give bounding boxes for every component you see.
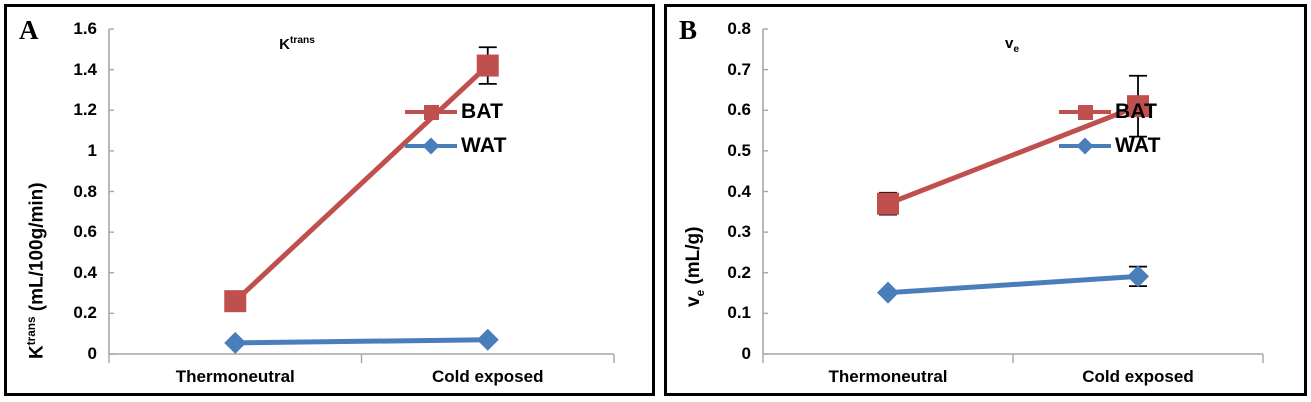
y-tick-label: 0.7 <box>681 60 751 80</box>
diamond-marker-icon <box>1059 136 1111 156</box>
legend-item-bat[interactable]: BAT <box>405 95 507 129</box>
legend-label: WAT <box>461 134 507 158</box>
y-tick-label: 1.4 <box>27 60 97 80</box>
panel-b: B ve (mL/g) ve 00.10.20.30.40.50.60.70.8… <box>664 4 1307 396</box>
x-tick-label: Cold exposed <box>432 367 543 387</box>
y-tick-label: 0 <box>27 344 97 364</box>
x-tick-label: Thermoneutral <box>828 367 947 387</box>
y-tick-label: 0.4 <box>27 263 97 283</box>
y-tick-label: 0.3 <box>681 222 751 242</box>
panel-a-plot-area <box>109 29 614 354</box>
y-tick-label: 0.6 <box>27 222 97 242</box>
y-tick-label: 0.4 <box>681 182 751 202</box>
series-wat <box>224 329 499 354</box>
panel-b-legend: BATWAT <box>1059 95 1161 163</box>
data-point-marker <box>477 329 499 351</box>
data-point-marker <box>224 290 246 312</box>
square-marker-icon <box>405 102 457 122</box>
panel-a-legend: BATWAT <box>405 95 507 163</box>
data-point-marker <box>877 193 899 215</box>
legend-item-wat[interactable]: WAT <box>1059 129 1161 163</box>
panel-a: A Ktrans (mL/100g/min) Ktrans 00.20.40.6… <box>4 4 655 396</box>
y-tick-label: 0.8 <box>681 19 751 39</box>
panel-a-chart-svg <box>109 29 614 354</box>
y-tick-label: 0.2 <box>27 303 97 323</box>
y-tick-label: 1 <box>27 141 97 161</box>
y-tick-label: 0.2 <box>681 263 751 283</box>
diamond-marker-icon <box>405 136 457 156</box>
y-tick-label: 0.1 <box>681 303 751 323</box>
legend-item-bat[interactable]: BAT <box>1059 95 1161 129</box>
figure-root: A Ktrans (mL/100g/min) Ktrans 00.20.40.6… <box>0 0 1311 402</box>
legend-label: BAT <box>461 100 503 124</box>
y-tick-label: 0.5 <box>681 141 751 161</box>
y-tick-label: 0.8 <box>27 182 97 202</box>
y-tick-label: 1.2 <box>27 100 97 120</box>
y-tick-label: 0.6 <box>681 100 751 120</box>
legend-item-wat[interactable]: WAT <box>405 129 507 163</box>
y-tick-label: 0 <box>681 344 751 364</box>
series-line <box>888 276 1138 292</box>
panel-b-chart-svg <box>763 29 1263 354</box>
data-point-marker <box>1127 265 1149 287</box>
y-tick-label: 1.6 <box>27 19 97 39</box>
series-wat <box>877 265 1149 303</box>
data-point-marker <box>477 55 499 77</box>
square-marker-icon <box>1059 102 1111 122</box>
panel-b-plot-area <box>763 29 1263 354</box>
series-bat <box>224 47 499 312</box>
legend-label: BAT <box>1115 100 1157 124</box>
data-point-marker <box>877 282 899 304</box>
x-tick-label: Cold exposed <box>1082 367 1193 387</box>
legend-label: WAT <box>1115 134 1161 158</box>
x-tick-label: Thermoneutral <box>176 367 295 387</box>
data-point-marker <box>224 332 246 354</box>
series-line <box>235 340 488 343</box>
